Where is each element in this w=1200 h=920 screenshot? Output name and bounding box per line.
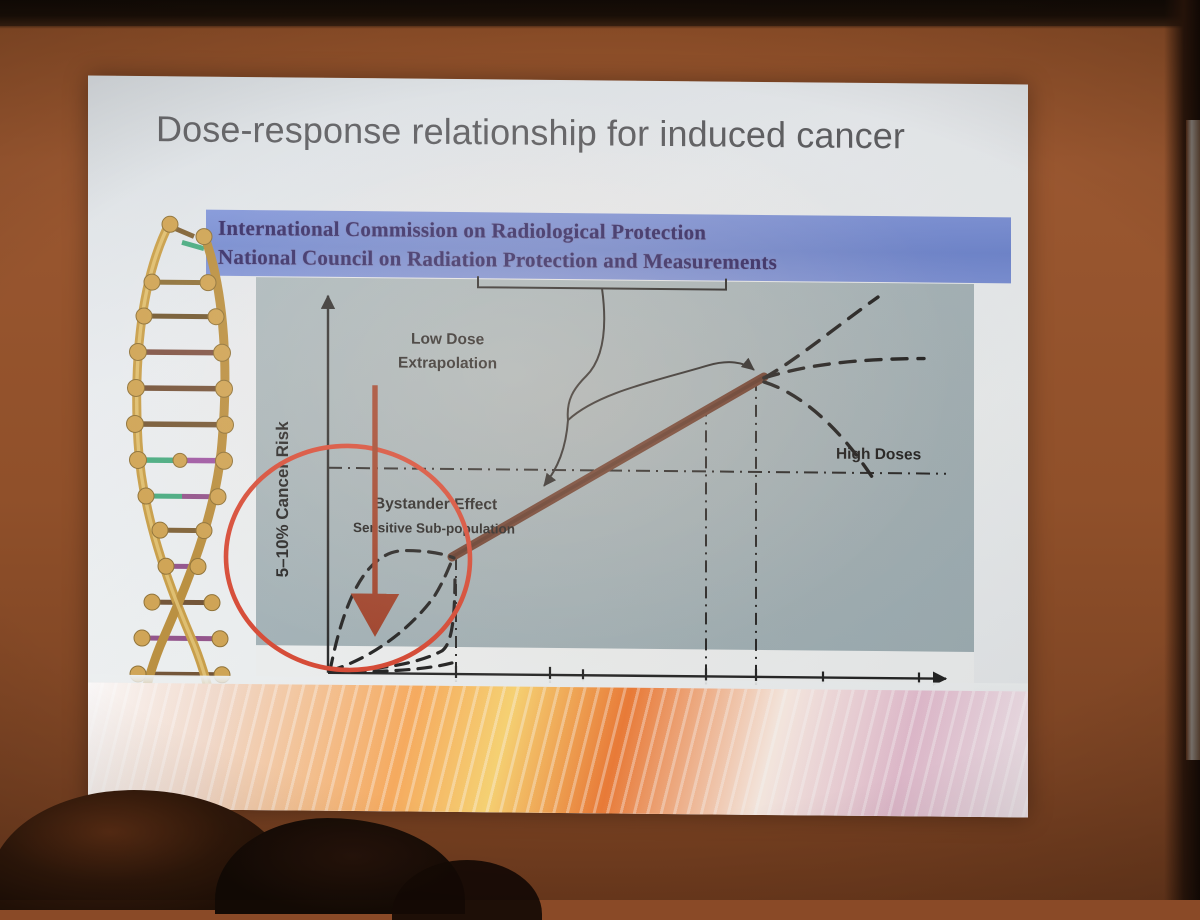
pointer-arrow-to-lnt-lower xyxy=(544,420,568,486)
pointer-arrow-to-lnt-upper xyxy=(568,361,754,422)
decorative-streak-band xyxy=(88,682,1028,817)
projected-slide: Dose-response relationship for induced c… xyxy=(88,75,1028,817)
reference-line-risk-level xyxy=(328,468,946,474)
organization-banner: International Commission on Radiological… xyxy=(206,210,1011,284)
page-title: Dose-response relationship for induced c… xyxy=(156,106,946,160)
y-axis-label: 5–10% Cancer Risk xyxy=(273,421,292,578)
slide-content: Dose-response relationship for induced c… xyxy=(88,75,1028,817)
curve-supralinear-bystander xyxy=(330,550,454,672)
dose-response-chart: Low Dose Extrapolation Bystander Effect … xyxy=(256,277,974,704)
label-high-doses: High Doses xyxy=(836,446,921,464)
banner-line-ncrp: National Council on Radiation Protection… xyxy=(218,243,1011,280)
room-background: Dose-response relationship for induced c… xyxy=(0,0,1200,900)
curve-adaptive-response xyxy=(330,574,455,672)
wall-edge-strip xyxy=(1186,120,1200,760)
label-bystander-line1: Bystander Effect xyxy=(374,495,497,513)
branch-high-dose-falling xyxy=(764,382,876,483)
label-low-dose-line2: Extrapolation xyxy=(398,354,497,372)
label-low-dose-line1: Low Dose xyxy=(411,331,485,349)
branch-high-dose-plateau xyxy=(764,357,924,380)
label-bystander-line2: Sensitive Sub-population xyxy=(353,520,515,537)
curve-low-flat xyxy=(330,662,452,673)
ceiling-shadow xyxy=(0,0,1200,26)
decorative-streak-lines xyxy=(88,682,1028,817)
curve-threshold-sublinear xyxy=(330,557,453,672)
